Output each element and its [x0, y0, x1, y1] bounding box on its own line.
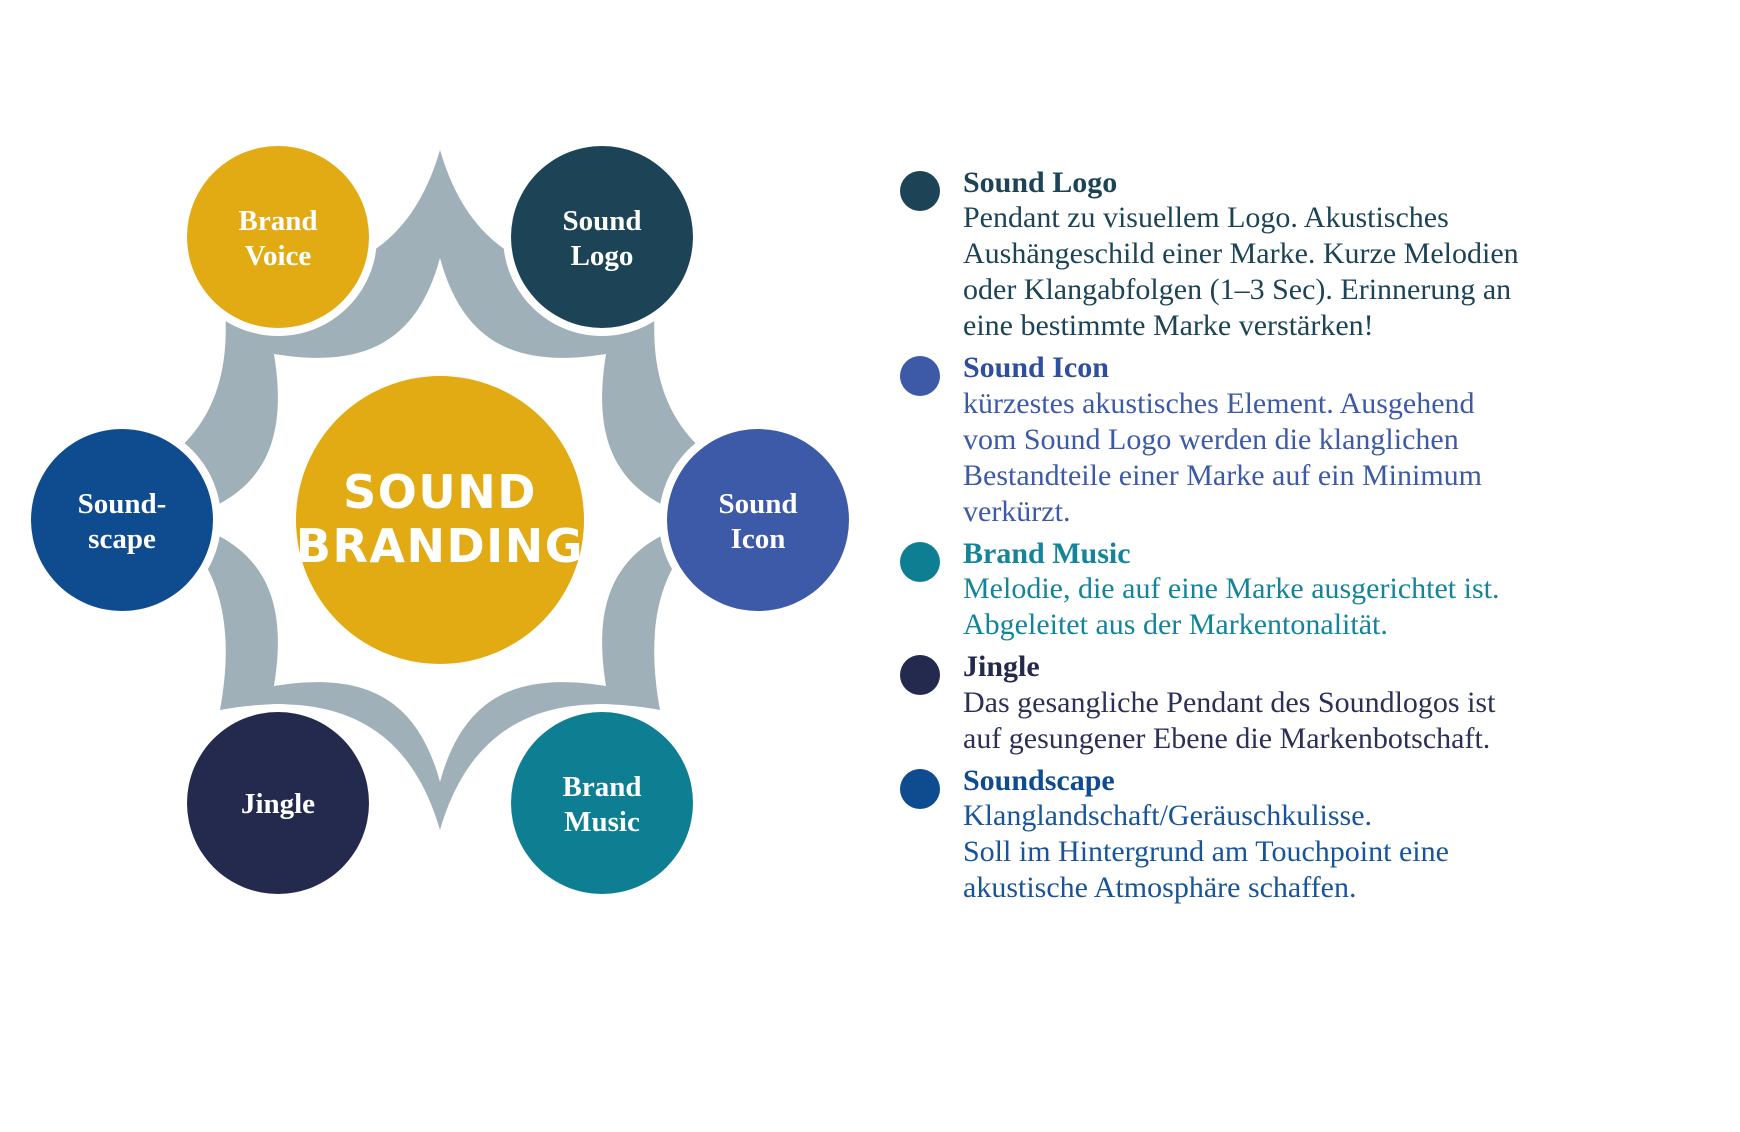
node-sound-logo-label-1: Sound	[562, 205, 641, 237]
legend-dot-soundscape	[900, 769, 940, 809]
legend-item-soundscape[interactable]: Soundscape Klanglandschaft/Geräuschkulis…	[900, 763, 1600, 906]
node-sound-icon-label-2: Icon	[731, 523, 786, 555]
legend-desc-jingle: Das gesangliche Pendant des Soundlogos i…	[963, 685, 1600, 757]
center-hub-label-2: BRANDING	[296, 519, 584, 573]
legend-list: Sound Logo Pendant zu visuellem Logo. Ak…	[900, 165, 1600, 912]
node-brand-music-label-1: Brand	[563, 771, 642, 803]
node-soundscape-circle[interactable]	[31, 429, 213, 611]
node-brand-music-circle[interactable]	[511, 712, 693, 894]
node-brand-music-label-2: Music	[564, 806, 640, 838]
node-brand-voice-label-1: Brand	[239, 205, 318, 237]
legend-dot-jingle	[900, 655, 940, 695]
legend-desc-sound-logo: Pendant zu visuellem Logo. Akustisches A…	[963, 200, 1600, 344]
node-jingle-label-1: Jingle	[241, 788, 315, 820]
node-brand-voice[interactable]: Brand Voice	[179, 138, 377, 336]
legend-item-sound-logo[interactable]: Sound Logo Pendant zu visuellem Logo. Ak…	[900, 165, 1600, 344]
node-soundscape[interactable]: Sound- scape	[23, 421, 221, 619]
node-sound-logo-circle[interactable]	[511, 146, 693, 328]
center-hub[interactable]: SOUND BRANDING	[296, 376, 584, 664]
legend-title-sound-icon: Sound Icon	[963, 350, 1600, 385]
node-brand-voice-circle[interactable]	[187, 146, 369, 328]
node-brand-music[interactable]: Brand Music	[503, 704, 701, 902]
sound-branding-infographic: Brand Voice Sound Logo Sound Icon	[0, 0, 1740, 1132]
center-hub-label-1: SOUND	[343, 465, 537, 519]
diagram-panel: Brand Voice Sound Logo Sound Icon	[0, 0, 900, 1132]
node-jingle[interactable]: Jingle	[179, 704, 377, 902]
node-soundscape-label-1: Sound-	[78, 488, 167, 520]
legend-item-brand-music[interactable]: Brand Music Melodie, die auf eine Marke …	[900, 536, 1600, 643]
node-soundscape-label-2: scape	[88, 523, 156, 555]
node-brand-voice-label-2: Voice	[245, 240, 312, 272]
legend-item-jingle[interactable]: Jingle Das gesangliche Pendant des Sound…	[900, 649, 1600, 756]
node-sound-icon-label-1: Sound	[718, 488, 797, 520]
sound-branding-wheel: Brand Voice Sound Logo Sound Icon	[20, 110, 860, 910]
node-sound-logo[interactable]: Sound Logo	[503, 138, 701, 336]
legend-panel: Sound Logo Pendant zu visuellem Logo. Ak…	[900, 0, 1740, 1132]
legend-dot-sound-logo	[900, 171, 940, 211]
legend-title-sound-logo: Sound Logo	[963, 165, 1600, 200]
legend-title-soundscape: Soundscape	[963, 763, 1600, 798]
node-sound-icon-circle[interactable]	[667, 429, 849, 611]
node-sound-logo-label-2: Logo	[571, 240, 634, 272]
legend-dot-brand-music	[900, 542, 940, 582]
legend-desc-soundscape: Klanglandschaft/Geräuschkulisse. Soll im…	[963, 798, 1600, 906]
legend-title-jingle: Jingle	[963, 649, 1600, 684]
legend-title-brand-music: Brand Music	[963, 536, 1600, 571]
legend-desc-sound-icon: kürzestes akustisches Element. Ausgehend…	[963, 386, 1600, 530]
legend-item-sound-icon[interactable]: Sound Icon kürzestes akustisches Element…	[900, 350, 1600, 529]
legend-dot-sound-icon	[900, 356, 940, 396]
legend-desc-brand-music: Melodie, die auf eine Marke ausgerichtet…	[963, 571, 1600, 643]
node-sound-icon[interactable]: Sound Icon	[659, 421, 857, 619]
